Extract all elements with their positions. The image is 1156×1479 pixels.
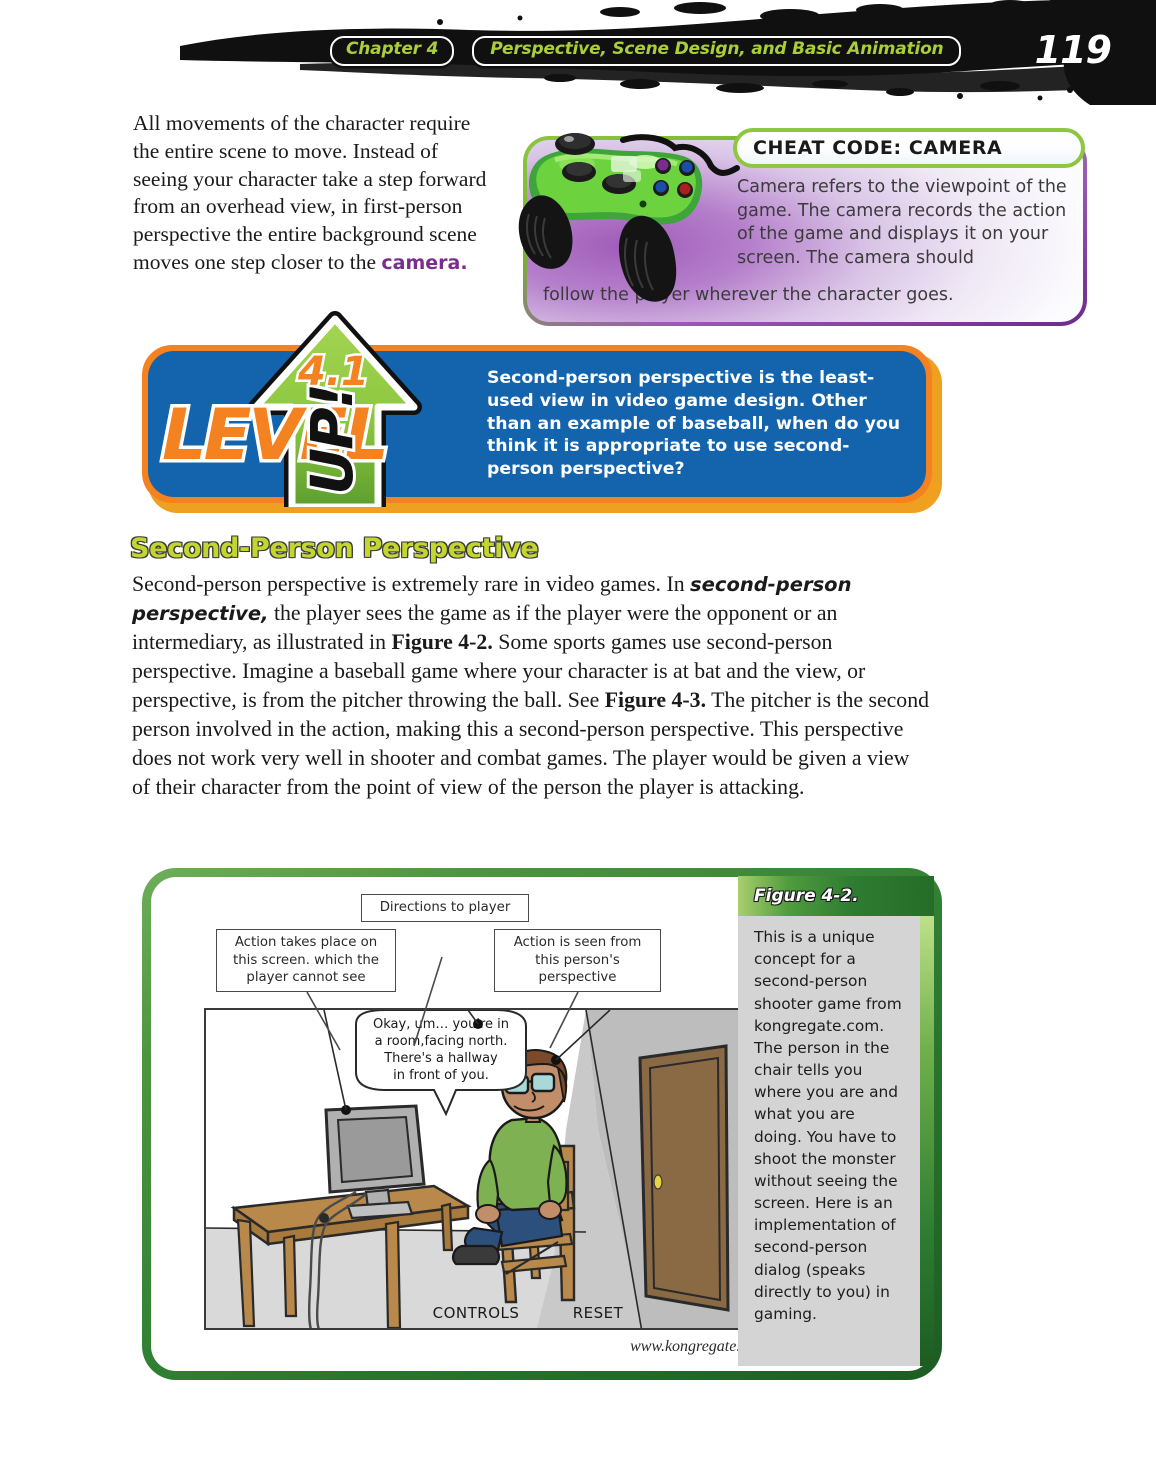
gamepad-image — [515, 122, 765, 312]
body-paragraph: Second-person perspective is extremely r… — [132, 570, 932, 802]
cheat-code-title-bar: CHEAT CODE: CAMERA — [733, 128, 1085, 168]
level-up-box: Second-person perspective is the least-u… — [142, 345, 942, 513]
chapter-pill: Chapter 4 — [330, 36, 454, 66]
callout-action-screen: Action takes place on this screen. which… — [216, 929, 396, 992]
intro-text: All movements of the character require t… — [133, 111, 486, 274]
callout-directions-to-player: Directions to player — [361, 894, 529, 922]
intro-paragraph: All movements of the character require t… — [133, 110, 493, 277]
chapter-title-pill: Perspective, Scene Design, and Basic Ani… — [472, 36, 961, 66]
gamepad-mid-stick — [562, 162, 596, 182]
intro-keyword: camera. — [381, 252, 467, 274]
cheat-code-text: Camera refers to the viewpoint of the ga… — [737, 176, 1067, 271]
level-up-badge-graphic: LEVEL UP! 4.1 — [152, 307, 492, 507]
figure-4-2: Directions to player Action takes place … — [142, 868, 942, 1380]
textbook-page: Chapter 4 Perspective, Scene Design, and… — [0, 0, 1156, 1479]
page-header: Chapter 4 Perspective, Scene Design, and… — [0, 0, 1156, 105]
cheat-code-box: CHEAT CODE: CAMERA Camera refers to the … — [515, 122, 1085, 322]
section-heading: Second-Person Perspective — [130, 533, 538, 564]
figure-ref-1: Figure 4-2. — [391, 630, 492, 654]
gamepad-left-stick — [555, 133, 595, 155]
up-word: UP! — [298, 385, 366, 495]
header-pill-group: Chapter 4 Perspective, Scene Design, and… — [330, 36, 961, 66]
callout-action-person: Action is seen from this person's perspe… — [494, 929, 661, 992]
figure-ref-2: Figure 4-3. — [605, 688, 706, 712]
level-number: 4.1 — [297, 349, 369, 395]
level-up-question: Second-person perspective is the least-u… — [487, 367, 907, 481]
body-lead: Second-person perspective is extremely r… — [132, 572, 690, 596]
cheat-code-title: CHEAT CODE: CAMERA — [737, 137, 1002, 159]
page-number: 119 — [1035, 28, 1111, 72]
